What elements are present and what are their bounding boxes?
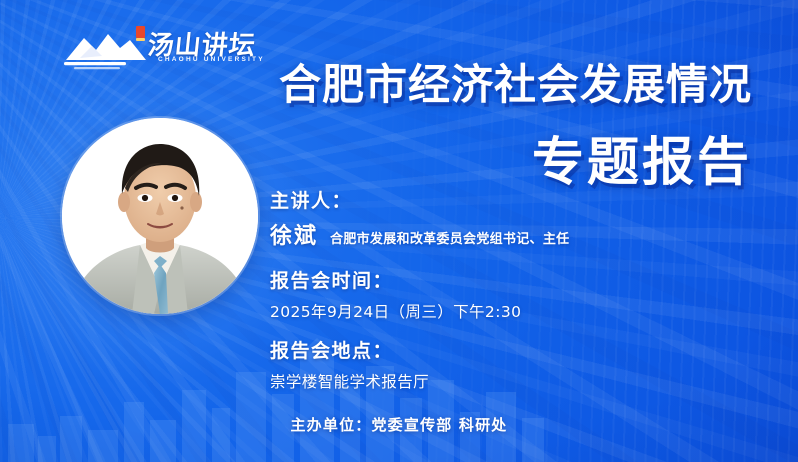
speaker-portrait-image: [62, 118, 258, 314]
logo-name-en: CHAOHU UNIVERSITY: [158, 56, 265, 63]
event-details: 主讲人： 徐斌 合肥市发展和改革委员会党组书记、主任 报告会时间： 2025年9…: [270, 186, 690, 392]
time-label: 报告会时间：: [270, 266, 690, 293]
place-block: 报告会地点： 崇学楼智能学术报告厅: [270, 336, 690, 392]
place-value: 崇学楼智能学术报告厅: [270, 370, 690, 392]
speaker-block: 主讲人： 徐斌 合肥市发展和改革委员会党组书记、主任: [270, 186, 690, 250]
speaker-title: 合肥市发展和改革委员会党组书记、主任: [330, 228, 569, 247]
speaker-name: 徐斌: [270, 218, 318, 250]
speaker-portrait: [62, 118, 258, 314]
headline-line-1: 合肥市经济社会发展情况: [279, 62, 752, 107]
poster-canvas: 汤山讲坛 CHAOHU UNIVERSITY: [0, 0, 798, 462]
place-label: 报告会地点：: [270, 336, 690, 363]
organizer-footer: 主办单位：党委宣传部 科研处: [0, 414, 798, 435]
time-value: 2025年9月24日（周三）下午2:30: [270, 300, 690, 322]
brand-logo[interactable]: 汤山讲坛 CHAOHU UNIVERSITY: [62, 22, 232, 76]
time-block: 报告会时间： 2025年9月24日（周三）下午2:30: [270, 266, 690, 322]
poster-headline: 合肥市经济社会发展情况 专题报告: [279, 62, 752, 192]
speaker-label: 主讲人：: [270, 186, 690, 213]
speaker-row: 徐斌 合肥市发展和改革委员会党组书记、主任: [270, 218, 690, 250]
headline-line-2: 专题报告: [279, 135, 752, 191]
